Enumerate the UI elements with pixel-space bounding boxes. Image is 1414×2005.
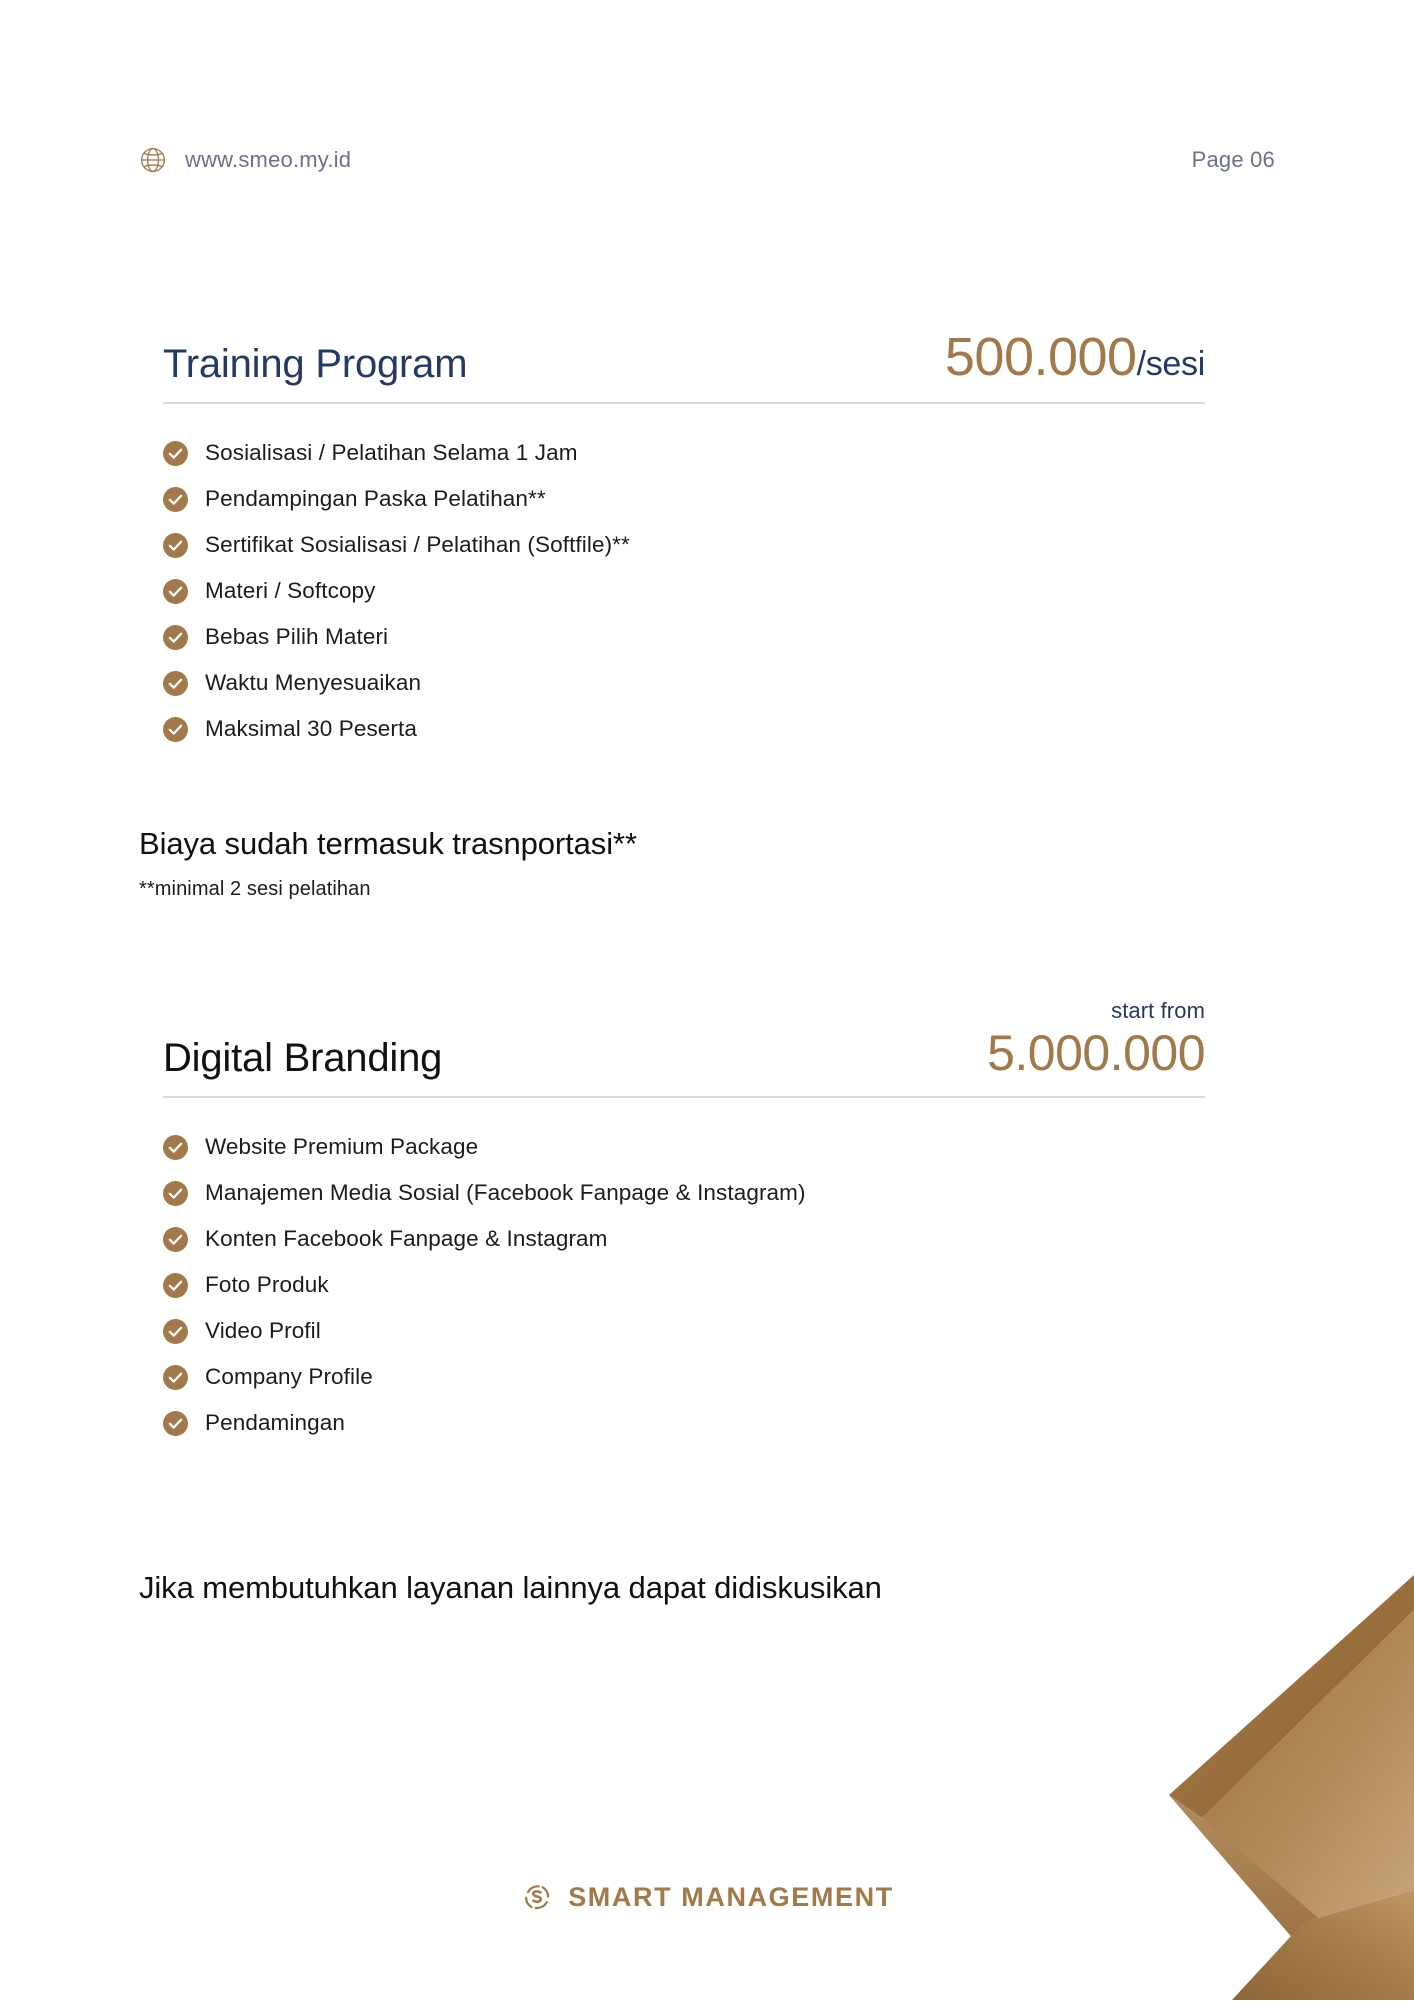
feature-label: Foto Produk [205,1272,329,1298]
package-header: Digital Branding start from 5.000.000 [163,1000,1205,1096]
list-item: Pendamingan [163,1400,1205,1446]
list-item: Sertifikat Sosialisasi / Pelatihan (Soft… [163,522,1205,568]
feature-list: Website Premium Package Manajemen Media … [163,1124,1205,1446]
feature-label: Video Profil [205,1318,321,1344]
feature-label: Waktu Menyesuaikan [205,670,421,696]
check-circle-icon [163,717,188,742]
list-item: Maksimal 30 Peserta [163,706,1205,752]
smart-management-logo-icon [520,1880,554,1914]
transport-note-block: Biaya sudah termasuk trasnportasi** **mi… [139,825,637,901]
feature-label: Manajemen Media Sosial (Facebook Fanpage… [205,1180,806,1206]
list-item: Konten Facebook Fanpage & Instagram [163,1216,1205,1262]
feature-label: Pendamingan [205,1410,345,1436]
site-url-text: www.smeo.my.id [185,147,351,173]
check-circle-icon [163,1411,188,1436]
list-item: Website Premium Package [163,1124,1205,1170]
check-circle-icon [163,1365,188,1390]
price-note: start from [987,1000,1205,1022]
price-amount: 500.000 [945,327,1137,387]
page-header: www.smeo.my.id Page 06 [139,140,1275,180]
feature-label: Website Premium Package [205,1134,478,1160]
price-amount: 5.000.000 [987,1025,1205,1081]
page-number: Page 06 [1192,147,1275,173]
feature-label: Company Profile [205,1364,373,1390]
check-circle-icon [163,579,188,604]
check-circle-icon [163,1319,188,1344]
page-footer: SMART MANAGEMENT [0,1880,1414,1914]
globe-icon [139,146,167,174]
check-circle-icon [163,671,188,696]
package-price: start from 5.000.000 [987,1000,1205,1078]
brand-name: SMART MANAGEMENT [568,1882,894,1913]
check-circle-icon [163,1273,188,1298]
check-circle-icon [163,533,188,558]
package-training-program: Training Program 500.000/sesi Sosialisas… [163,330,1205,752]
closing-statement: Jika membutuhkan layanan lainnya dapat d… [139,1570,882,1606]
package-divider [163,402,1205,404]
feature-label: Bebas Pilih Materi [205,624,388,650]
package-divider [163,1096,1205,1098]
package-digital-branding: Digital Branding start from 5.000.000 We… [163,1000,1205,1446]
transport-note-heading: Biaya sudah termasuk trasnportasi** [139,825,637,862]
feature-label: Konten Facebook Fanpage & Instagram [205,1226,608,1252]
price-unit: /sesi [1137,345,1205,383]
check-circle-icon [163,1227,188,1252]
feature-label: Maksimal 30 Peserta [205,716,417,742]
feature-list: Sosialisasi / Pelatihan Selama 1 Jam Pen… [163,430,1205,752]
feature-label: Pendampingan Paska Pelatihan** [205,486,546,512]
list-item: Sosialisasi / Pelatihan Selama 1 Jam [163,430,1205,476]
check-circle-icon [163,487,188,512]
decorative-corner-ribbon [1114,1550,1414,2000]
feature-label: Materi / Softcopy [205,578,376,604]
list-item: Materi / Softcopy [163,568,1205,614]
list-item: Video Profil [163,1308,1205,1354]
check-circle-icon [163,625,188,650]
feature-label: Sosialisasi / Pelatihan Selama 1 Jam [205,440,578,466]
list-item: Waktu Menyesuaikan [163,660,1205,706]
page-canvas: www.smeo.my.id Page 06 Training Program … [0,0,1414,2000]
list-item: Bebas Pilih Materi [163,614,1205,660]
package-title: Training Program [163,344,467,384]
list-item: Company Profile [163,1354,1205,1400]
check-circle-icon [163,1135,188,1160]
package-price: 500.000/sesi [945,330,1205,384]
check-circle-icon [163,441,188,466]
transport-note-subtext: **minimal 2 sesi pelatihan [139,878,637,901]
feature-label: Sertifikat Sosialisasi / Pelatihan (Soft… [205,532,630,558]
site-url-group: www.smeo.my.id [139,146,351,174]
package-header: Training Program 500.000/sesi [163,330,1205,402]
package-title: Digital Branding [163,1038,442,1078]
list-item: Foto Produk [163,1262,1205,1308]
check-circle-icon [163,1181,188,1206]
list-item: Pendampingan Paska Pelatihan** [163,476,1205,522]
list-item: Manajemen Media Sosial (Facebook Fanpage… [163,1170,1205,1216]
